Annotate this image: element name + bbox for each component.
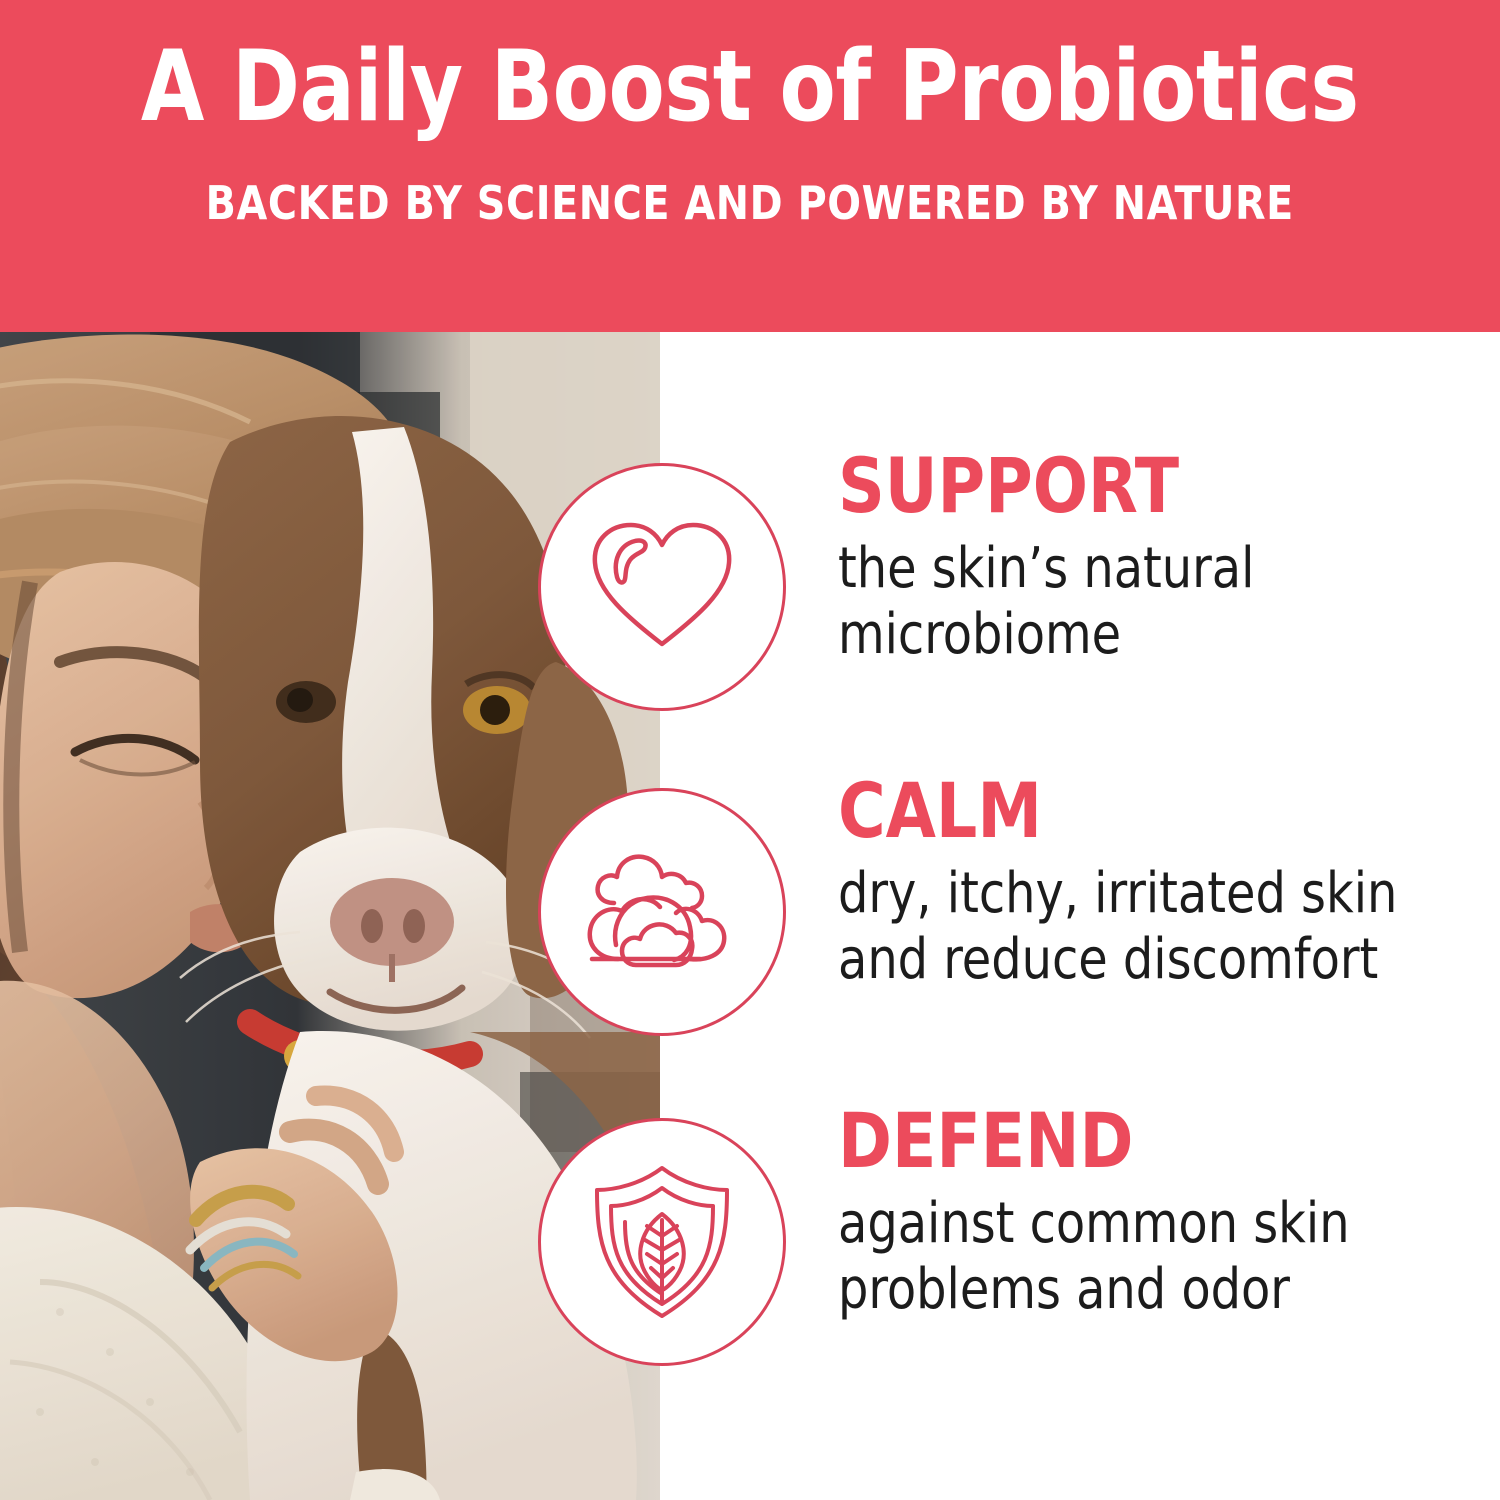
benefit-description-line: and reduce discomfort bbox=[838, 927, 1446, 993]
benefit-title: CALM bbox=[838, 775, 1446, 847]
clouds-icon bbox=[538, 788, 786, 1036]
benefit-description: dry, itchy, irritated skin and reduce di… bbox=[838, 861, 1446, 993]
benefit-title: SUPPORT bbox=[838, 450, 1446, 522]
benefits-panel: SUPPORT the skin’s natural microbiome bbox=[660, 332, 1500, 1500]
benefit-description-line: the skin’s natural bbox=[838, 536, 1446, 602]
page-title: A Daily Boost of Probiotics bbox=[141, 38, 1359, 138]
page-subtitle: BACKED BY SCIENCE AND POWERED BY NATURE bbox=[206, 176, 1294, 230]
benefit-description: against common skin problems and odor bbox=[838, 1191, 1446, 1323]
benefit-defend: DEFEND against common skin problems and … bbox=[660, 1105, 1500, 1405]
header-band: A Daily Boost of Probiotics BACKED BY SC… bbox=[0, 0, 1500, 332]
heart-icon bbox=[538, 463, 786, 711]
benefit-text-calm: CALM dry, itchy, irritated skin and redu… bbox=[838, 775, 1478, 993]
benefit-description-line: against common skin bbox=[838, 1191, 1446, 1257]
benefit-support: SUPPORT the skin’s natural microbiome bbox=[660, 450, 1500, 750]
benefit-description-line: problems and odor bbox=[838, 1257, 1446, 1323]
benefit-calm: CALM dry, itchy, irritated skin and redu… bbox=[660, 775, 1500, 1075]
infographic-canvas: A Daily Boost of Probiotics BACKED BY SC… bbox=[0, 0, 1500, 1500]
benefit-title: DEFEND bbox=[838, 1105, 1446, 1177]
benefit-description-line: dry, itchy, irritated skin bbox=[838, 861, 1446, 927]
benefit-text-defend: DEFEND against common skin problems and … bbox=[838, 1105, 1478, 1323]
benefit-description-line: microbiome bbox=[838, 602, 1446, 668]
benefit-description: the skin’s natural microbiome bbox=[838, 536, 1446, 668]
benefit-text-support: SUPPORT the skin’s natural microbiome bbox=[838, 450, 1478, 668]
shield-leaf-icon bbox=[538, 1118, 786, 1366]
